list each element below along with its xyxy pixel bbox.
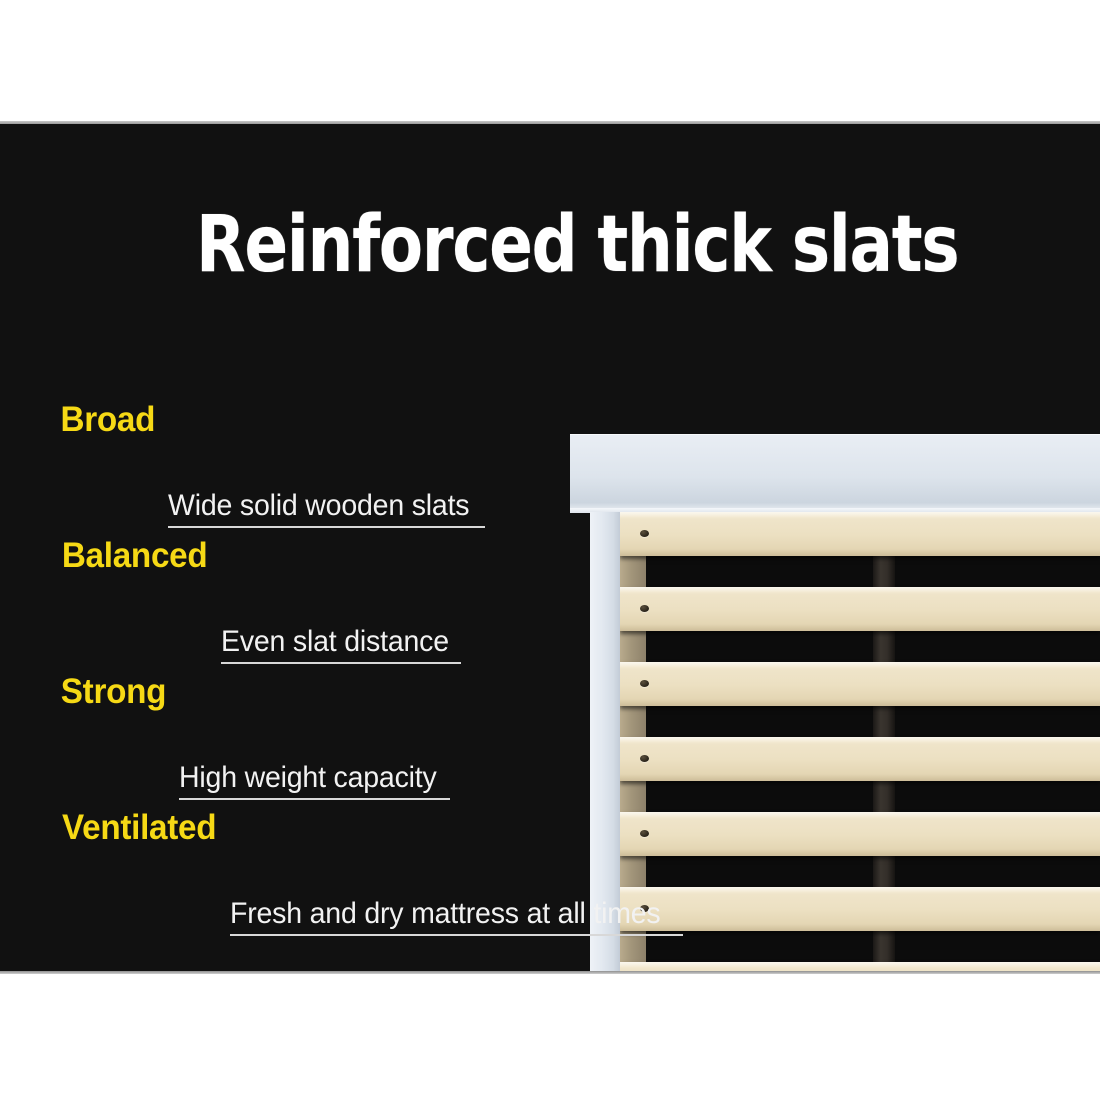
feature-item-strong: Strong High weight capacity xyxy=(58,672,578,808)
feature-label: Strong xyxy=(61,672,166,712)
screw-icon xyxy=(640,530,649,537)
wooden-slat xyxy=(620,587,1100,631)
panel-bottom-divider xyxy=(0,971,1100,974)
feature-description-block: Even slat distance xyxy=(221,626,461,673)
feature-item-balanced: Balanced Even slat distance xyxy=(58,536,578,672)
feature-underline xyxy=(221,662,461,664)
feature-description-block: Fresh and dry mattress at all times xyxy=(230,898,683,945)
screw-icon xyxy=(640,830,649,837)
feature-label: Ventilated xyxy=(62,808,216,848)
wooden-slat xyxy=(620,512,1100,556)
feature-item-broad: Broad Wide solid wooden slats xyxy=(58,400,578,536)
feature-description: Even slat distance xyxy=(221,626,449,658)
feature-description-block: High weight capacity xyxy=(179,762,450,809)
slat-deck xyxy=(620,512,1100,973)
screw-icon xyxy=(640,680,649,687)
feature-underline xyxy=(230,934,683,936)
feature-underline xyxy=(179,798,450,800)
wooden-slat xyxy=(620,887,1100,931)
feature-panel: Reinforced thick slats Broad Wide solid … xyxy=(0,124,1100,973)
feature-item-ventilated: Ventilated Fresh and dry mattress at all… xyxy=(58,808,578,944)
wooden-slat xyxy=(620,737,1100,781)
wooden-slat xyxy=(620,812,1100,856)
bed-frame-head-rail xyxy=(570,434,1100,512)
feature-description: Wide solid wooden slats xyxy=(168,490,469,522)
wooden-slat xyxy=(620,662,1100,706)
page-title: Reinforced thick slats xyxy=(196,206,895,284)
feature-label: Balanced xyxy=(62,536,208,576)
feature-list: Broad Wide solid wooden slats Balanced E… xyxy=(58,400,578,944)
feature-description: High weight capacity xyxy=(179,762,437,794)
feature-underline xyxy=(168,526,485,528)
screw-icon xyxy=(640,755,649,762)
promo-canvas: Reinforced thick slats Broad Wide solid … xyxy=(0,0,1100,1100)
feature-label: Broad xyxy=(60,400,155,440)
product-photo xyxy=(566,430,1100,973)
feature-description-block: Wide solid wooden slats xyxy=(168,490,485,537)
feature-description: Fresh and dry mattress at all times xyxy=(230,898,660,930)
screw-icon xyxy=(640,605,649,612)
